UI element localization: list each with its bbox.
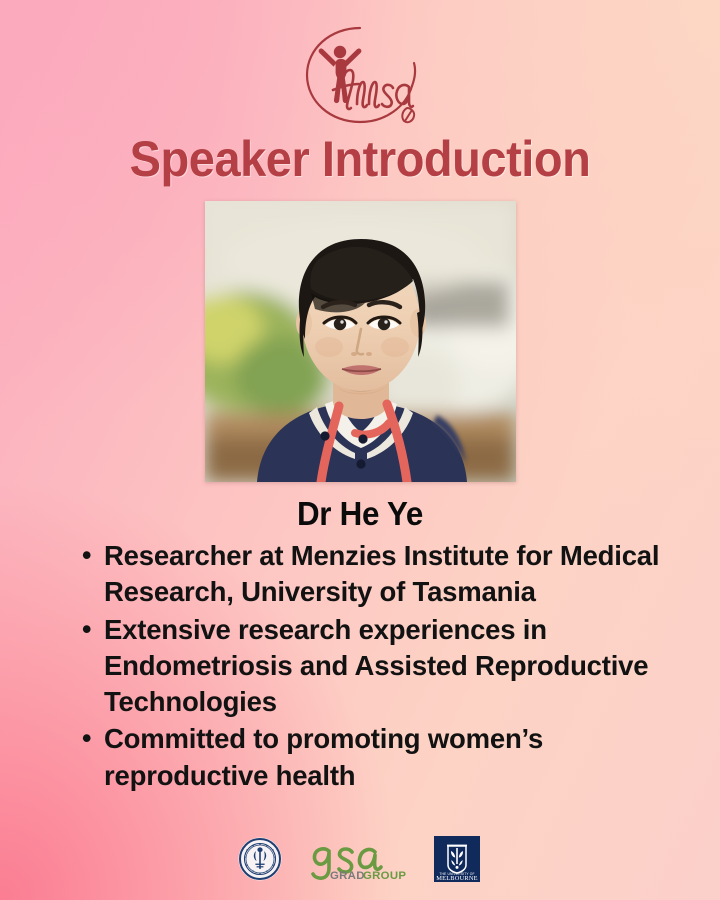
- speaker-name: Dr He Ye: [18, 495, 702, 533]
- speaker-photo: [205, 201, 516, 482]
- svg-text:GRAD: GRAD: [330, 870, 365, 882]
- unimelb-wordmark: MELBOURNE: [436, 875, 478, 882]
- svg-text:GROUPS: GROUPS: [363, 870, 406, 882]
- list-item: Committed to promoting women’s reproduct…: [78, 721, 678, 794]
- speaker-introduction-poster: Speaker Introduction: [0, 0, 720, 900]
- page-title: Speaker Introduction: [22, 133, 699, 186]
- ahhsa-logo: [297, 22, 423, 130]
- university-of-melbourne-logo: THE UNIVERSITY OF MELBOURNE: [432, 834, 482, 884]
- footer-logo-row: GRAD GROUPS THE UNIVERSITY: [0, 830, 720, 888]
- medical-university-seal-logo: [238, 837, 282, 881]
- list-item: Researcher at Menzies Institute for Medi…: [78, 538, 678, 611]
- list-item: Extensive research experiences in Endome…: [78, 612, 678, 721]
- speaker-bio-list: Researcher at Menzies Institute for Medi…: [78, 538, 678, 795]
- gsa-grad-groups-logo: GRAD GROUPS: [308, 836, 406, 882]
